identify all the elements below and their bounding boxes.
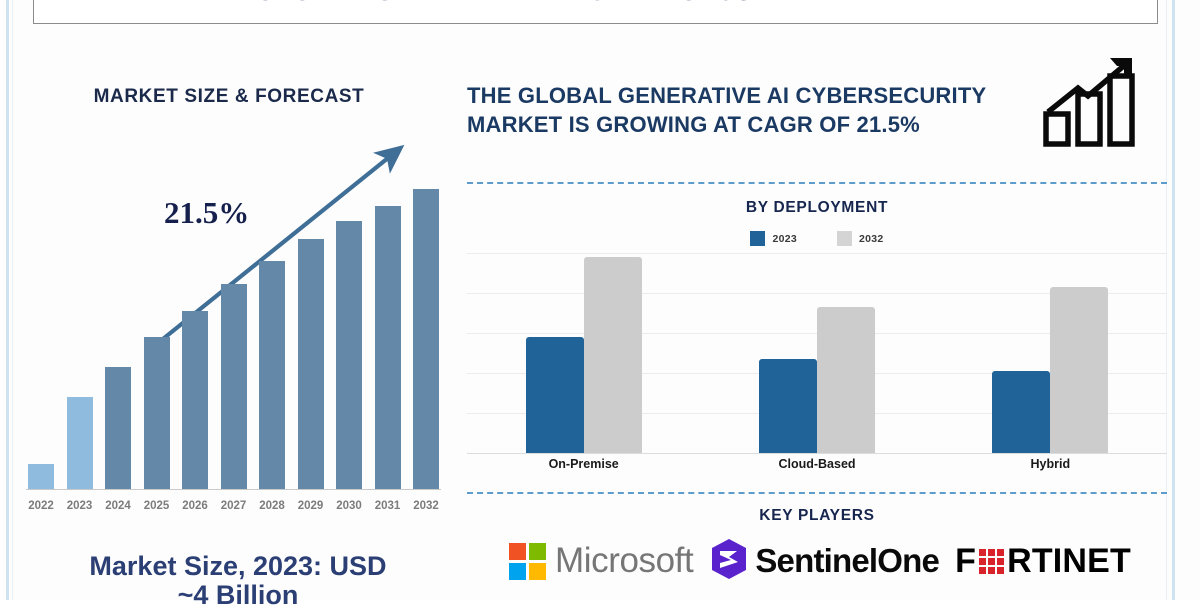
x-tick-label: 2027 bbox=[219, 500, 249, 512]
bar-column bbox=[296, 239, 326, 489]
group-cloud-based bbox=[759, 253, 875, 453]
left-inner-rail bbox=[12, 0, 13, 600]
bar-column bbox=[142, 337, 172, 489]
chart-baseline bbox=[26, 489, 441, 490]
bar-2023 bbox=[67, 397, 93, 489]
bar-hybrid-2032 bbox=[1050, 287, 1108, 453]
x-tick-label: 2022 bbox=[26, 500, 56, 512]
microsoft-wordmark: Microsoft bbox=[555, 541, 693, 581]
x-tick-label: 2032 bbox=[411, 500, 441, 512]
bar-2029 bbox=[298, 239, 324, 489]
market-size-footer: Market Size, 2023: USD ~4 Billion bbox=[14, 552, 462, 610]
legend-item-2023: 2023 bbox=[750, 231, 797, 246]
category-label-cloud-based: Cloud-Based bbox=[757, 457, 877, 471]
deployment-heading: BY DEPLOYMENT bbox=[467, 199, 1167, 217]
bar-column bbox=[411, 189, 441, 489]
bar-2027 bbox=[221, 284, 247, 489]
bar-column bbox=[334, 221, 364, 489]
x-tick-label: 2025 bbox=[142, 500, 172, 512]
x-tick-label: 2028 bbox=[257, 500, 287, 512]
bar-on-premise-2023 bbox=[526, 337, 584, 453]
bar-2028 bbox=[259, 261, 285, 489]
left-border-rail bbox=[6, 0, 9, 600]
legend-label-2032: 2032 bbox=[859, 233, 884, 245]
deployment-bar-chart: On-Premise Cloud-Based Hybrid bbox=[467, 253, 1167, 483]
bar-cloud-based-2023 bbox=[759, 359, 817, 453]
deployment-legend: 2023 2032 bbox=[467, 231, 1167, 246]
bar-column bbox=[219, 284, 249, 489]
bar-cloud-based-2032 bbox=[817, 307, 875, 453]
fortinet-text-before: F bbox=[955, 542, 976, 581]
x-tick-label: 2030 bbox=[334, 500, 364, 512]
group-hybrid bbox=[992, 253, 1108, 453]
market-size-line-2: ~4 Billion bbox=[178, 580, 299, 610]
microsoft-logo: Microsoft bbox=[509, 541, 693, 581]
x-tick-label: 2024 bbox=[103, 500, 133, 512]
bar-2032 bbox=[413, 189, 439, 489]
bar-column bbox=[65, 397, 95, 489]
bar-column bbox=[257, 261, 287, 489]
x-tick-label: 2026 bbox=[180, 500, 210, 512]
bar-2026 bbox=[182, 311, 208, 489]
microsoft-logo-icon bbox=[509, 543, 546, 580]
legend-swatch-2032 bbox=[837, 231, 852, 246]
bar-2024 bbox=[105, 367, 131, 489]
bar-on-premise-2032 bbox=[584, 257, 642, 453]
x-axis-labels: 2022 2023 2024 2025 2026 2027 2028 2029 … bbox=[26, 500, 441, 512]
bar-2031 bbox=[375, 206, 401, 489]
x-tick-label: 2031 bbox=[373, 500, 403, 512]
bar-2025 bbox=[144, 337, 170, 489]
divider-bottom bbox=[467, 492, 1167, 494]
market-size-bar-chart: 2022 2023 2024 2025 2026 2027 2028 2029 … bbox=[26, 140, 441, 520]
market-size-heading: MARKET SIZE & FORECAST bbox=[14, 86, 444, 108]
bar-column bbox=[180, 311, 210, 489]
sentinelone-logo: SentinelOne bbox=[709, 537, 939, 586]
headline-text: THE GLOBAL GENERATIVE AI CYBERSECURITY M… bbox=[467, 82, 1037, 139]
x-tick-label: 2023 bbox=[65, 500, 95, 512]
fortinet-logo-icon bbox=[979, 549, 1004, 574]
bar-series bbox=[26, 159, 441, 489]
x-tick-label: 2029 bbox=[296, 500, 326, 512]
bar-2030 bbox=[336, 221, 362, 489]
bar-column bbox=[26, 464, 56, 489]
fortinet-text-after: RTINET bbox=[1007, 542, 1131, 581]
bar-column bbox=[103, 367, 133, 489]
market-size-line-1: Market Size, 2023: USD bbox=[89, 551, 386, 581]
legend-item-2032: 2032 bbox=[837, 231, 884, 246]
deployment-groups bbox=[467, 253, 1167, 453]
legend-swatch-2023 bbox=[750, 231, 765, 246]
bar-chart-growth-icon bbox=[1040, 52, 1150, 147]
category-label-on-premise: On-Premise bbox=[524, 457, 644, 471]
key-players-heading: KEY PLAYERS bbox=[467, 507, 1167, 525]
divider-top bbox=[467, 182, 1167, 184]
market-size-panel: MARKET SIZE & FORECAST 21.5% bbox=[14, 30, 444, 600]
bar-2022 bbox=[28, 464, 54, 489]
bar-column bbox=[373, 206, 403, 489]
chart-baseline bbox=[467, 453, 1167, 454]
group-on-premise bbox=[526, 253, 642, 453]
sentinelone-wordmark: SentinelOne bbox=[755, 542, 939, 580]
bar-hybrid-2023 bbox=[992, 371, 1050, 453]
infographic-canvas: GLOBAL GENERATIVE AI CYBERSECURITY MARKE… bbox=[0, 0, 1200, 600]
sentinelone-logo-icon bbox=[709, 537, 749, 586]
key-players-logos: Microsoft SentinelOne F RTINET bbox=[455, 530, 1185, 592]
right-panel: THE GLOBAL GENERATIVE AI CYBERSECURITY M… bbox=[455, 0, 1185, 600]
category-label-hybrid: Hybrid bbox=[990, 457, 1110, 471]
fortinet-wordmark: F RTINET bbox=[955, 542, 1131, 581]
legend-label-2023: 2023 bbox=[772, 233, 797, 245]
fortinet-logo: F RTINET bbox=[955, 542, 1131, 581]
deployment-category-labels: On-Premise Cloud-Based Hybrid bbox=[467, 457, 1167, 471]
